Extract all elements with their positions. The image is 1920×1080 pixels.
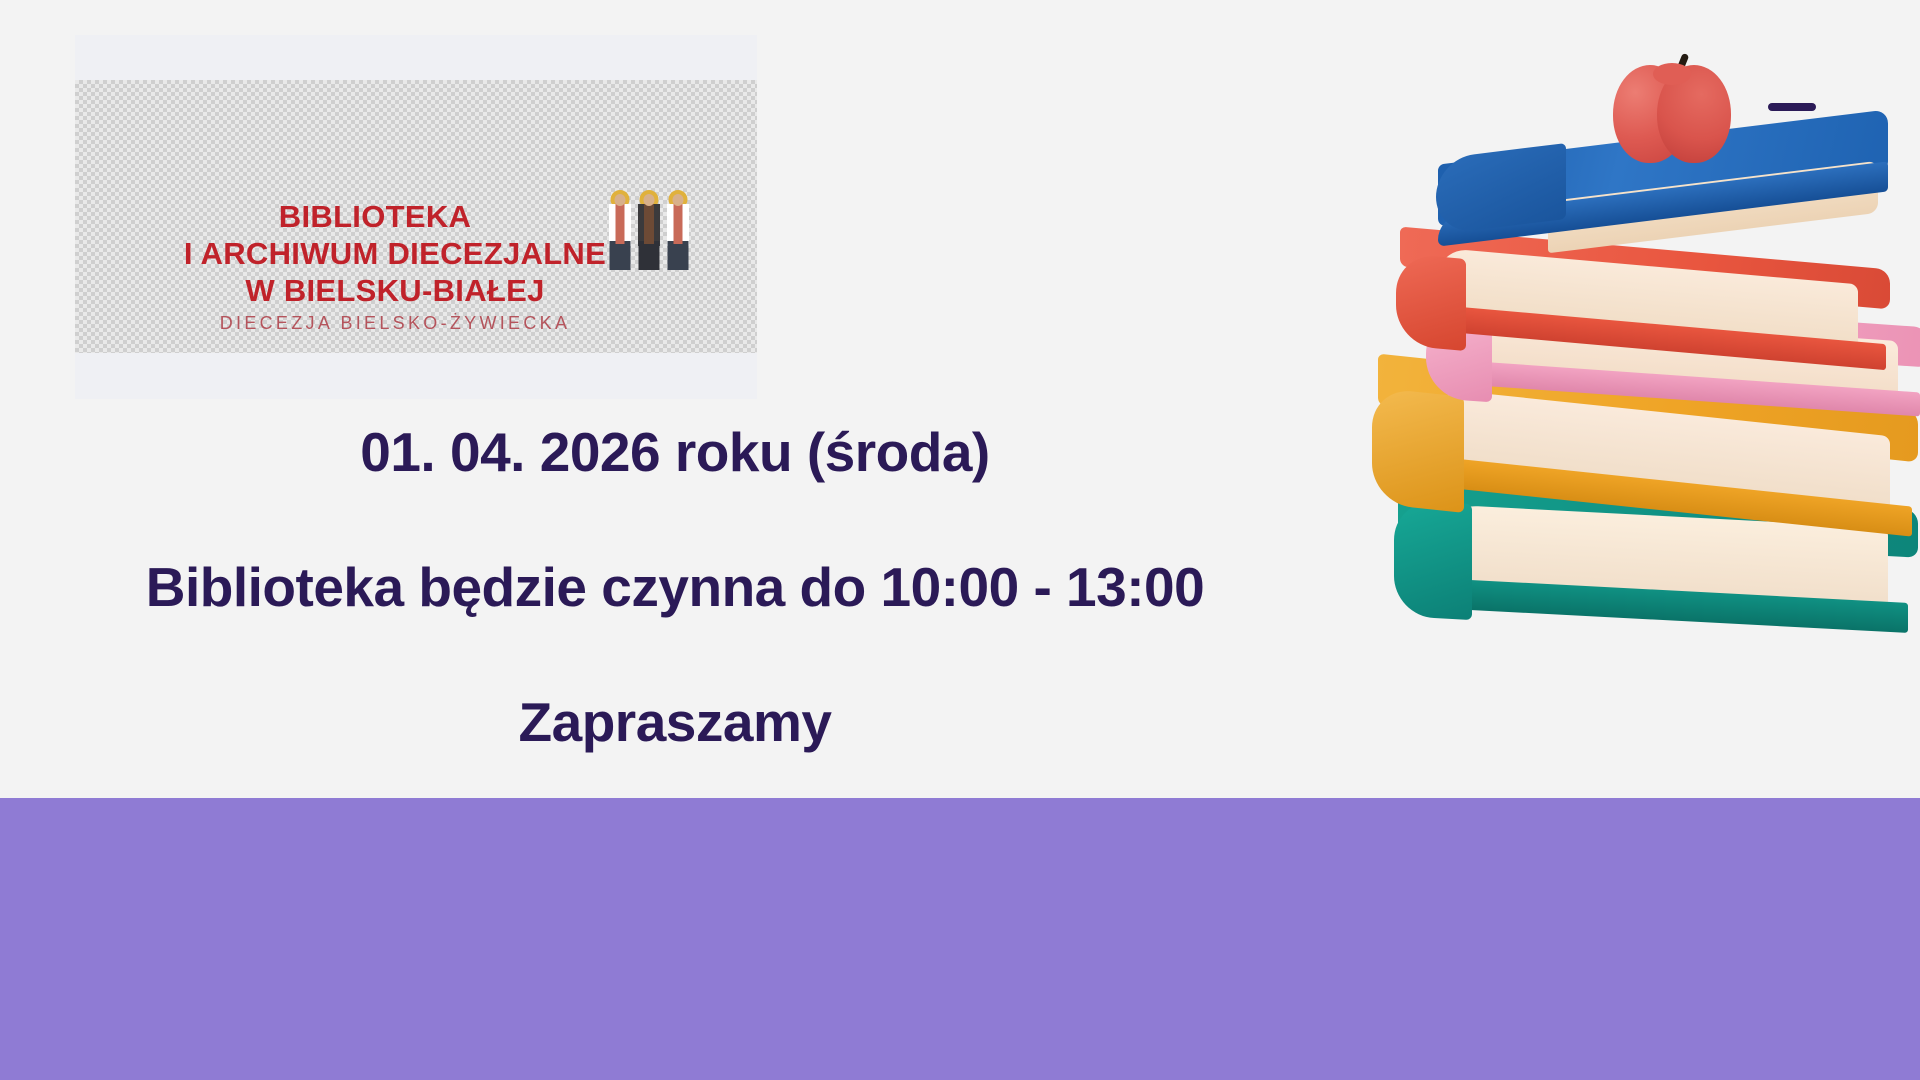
bottom-purple-band (0, 798, 1920, 1080)
logo-content: BIBLIOTEKA I ARCHIWUM DIECEZJALNE W BIEL… (75, 80, 757, 353)
red-book-icon (1400, 248, 1890, 393)
announcement-invitation: Zapraszamy (0, 690, 1350, 754)
library-logo-block: BIBLIOTEKA I ARCHIWUM DIECEZJALNE W BIEL… (75, 35, 757, 399)
dash-mark-decoration (1768, 103, 1816, 111)
apple-icon (1613, 53, 1731, 165)
announcement-hours: Biblioteka będzie czynna do 10:00 - 13:0… (0, 555, 1350, 619)
announcement-date: 01. 04. 2026 roku (środa) (0, 420, 1350, 484)
logo-subtitle: DIECEZJA BIELSKO-ŻYWIECKA (75, 313, 715, 334)
logo-transparency-checkerboard: BIBLIOTEKA I ARCHIWUM DIECEZJALNE W BIEL… (75, 80, 757, 353)
logo-title-line-3: W BIELSKU-BIAŁEJ (75, 272, 715, 309)
poster-canvas: BIBLIOTEKA I ARCHIWUM DIECEZJALNE W BIEL… (0, 0, 1920, 1080)
three-saints-emblem-icon (603, 180, 695, 270)
